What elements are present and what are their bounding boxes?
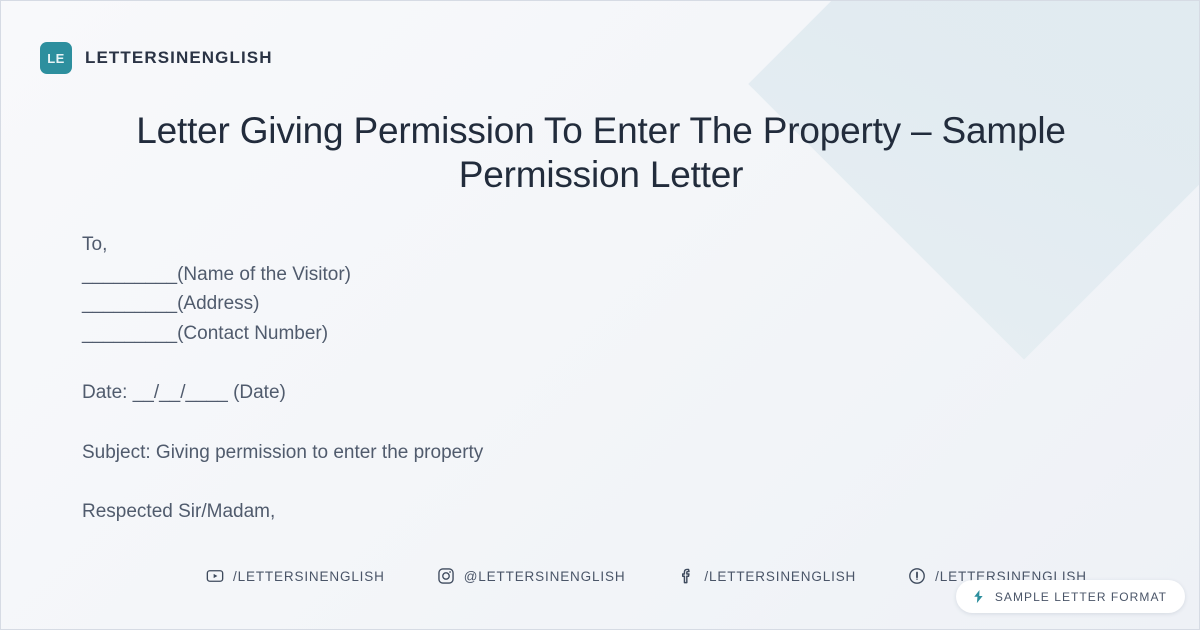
badge-label: SAMPLE LETTER FORMAT — [995, 590, 1167, 604]
brand-mark-icon: LE — [40, 42, 72, 74]
sample-letter-format-badge[interactable]: SAMPLE LETTER FORMAT — [956, 580, 1185, 613]
lightning-bolt-icon — [971, 589, 986, 604]
letter-line: Subject: Giving permission to enter the … — [82, 438, 1092, 468]
letter-block-salutation: Respected Sir/Madam, — [82, 497, 1092, 527]
letter-block-date: Date: __/__/____ (Date) — [82, 378, 1092, 408]
letter-line: _________(Name of the Visitor) — [82, 260, 1092, 290]
letter-block-recipient: To, _________(Name of the Visitor) _____… — [82, 230, 1092, 348]
letter-block-subject: Subject: Giving permission to enter the … — [82, 438, 1092, 468]
letter-line: To, — [82, 230, 1092, 260]
brand-name-label: LETTERSINENGLISH — [85, 48, 273, 68]
social-handle: /LETTERSINENGLISH — [233, 569, 385, 584]
letter-line: Respected Sir/Madam, — [82, 497, 1092, 527]
social-link-instagram[interactable]: @LETTERSINENGLISH — [437, 567, 626, 585]
letter-line: _________(Address) — [82, 289, 1092, 319]
letter-line: Date: __/__/____ (Date) — [82, 378, 1092, 408]
social-link-youtube[interactable]: /LETTERSINENGLISH — [206, 567, 385, 585]
page-title: Letter Giving Permission To Enter The Pr… — [101, 109, 1101, 198]
social-handle: /LETTERSINENGLISH — [704, 569, 856, 584]
youtube-icon — [206, 567, 224, 585]
facebook-icon — [677, 567, 695, 585]
letter-body: To, _________(Name of the Visitor) _____… — [82, 230, 1092, 527]
letter-line: _________(Contact Number) — [82, 319, 1092, 349]
social-handle: @LETTERSINENGLISH — [464, 569, 626, 584]
instagram-icon — [437, 567, 455, 585]
pinterest-icon — [908, 567, 926, 585]
social-link-facebook[interactable]: /LETTERSINENGLISH — [677, 567, 856, 585]
letter-preview-card: LE LETTERSINENGLISH Letter Giving Permis… — [0, 0, 1200, 630]
brand-logo[interactable]: LE LETTERSINENGLISH — [40, 42, 273, 74]
social-links: /LETTERSINENGLISH @LETTERSINENGLISH /LET… — [206, 567, 1087, 585]
